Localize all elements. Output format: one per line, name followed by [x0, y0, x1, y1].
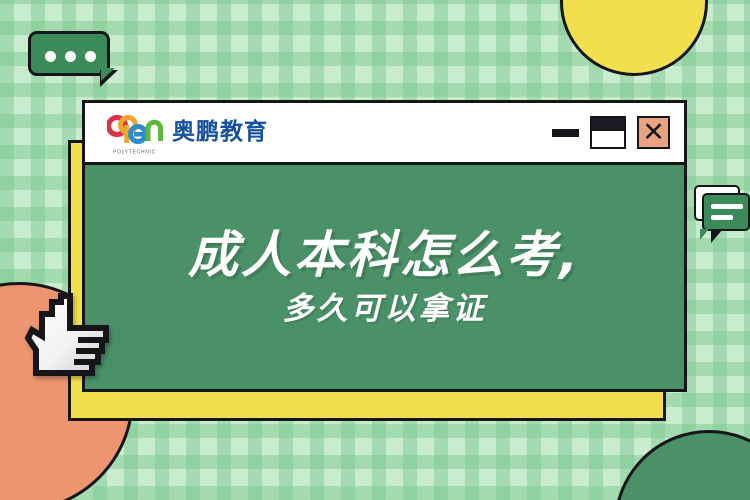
- logo-tagline: POLYTECHNIC: [113, 148, 156, 154]
- minimize-button[interactable]: [552, 129, 579, 137]
- page-subtitle: 多久可以拿证: [283, 294, 487, 325]
- bubble-dot-1: [45, 51, 56, 62]
- bubble-dot-2: [65, 51, 76, 62]
- bubble-tail: [100, 70, 118, 87]
- window-controls: ✕: [552, 116, 670, 149]
- maximize-button[interactable]: [590, 116, 626, 149]
- bubble-dot-3: [85, 51, 96, 62]
- pointing-hand-cursor-icon: [18, 288, 114, 392]
- bubble-tail-right: [711, 229, 723, 243]
- app-window: POLYTECHNIC 奥鹏教育 ✕ 成人本科怎么考, 多久可以拿证: [82, 100, 687, 392]
- window-content: 成人本科怎么考, 多久可以拿证: [85, 165, 684, 389]
- chat-bubbles-icon: [702, 193, 750, 231]
- maximize-titlebar-glyph: [592, 118, 624, 131]
- chat-bubble-icon: [28, 31, 110, 76]
- window-titlebar: POLYTECHNIC 奥鹏教育 ✕: [85, 103, 684, 165]
- brand-name: 奥鹏教育: [172, 121, 268, 144]
- bubble-line-1: [711, 204, 743, 209]
- open-logo-icon: POLYTECHNIC: [107, 115, 163, 151]
- bubble-line-2: [711, 215, 733, 220]
- close-button[interactable]: ✕: [637, 116, 670, 149]
- page-title: 成人本科怎么考,: [188, 230, 581, 280]
